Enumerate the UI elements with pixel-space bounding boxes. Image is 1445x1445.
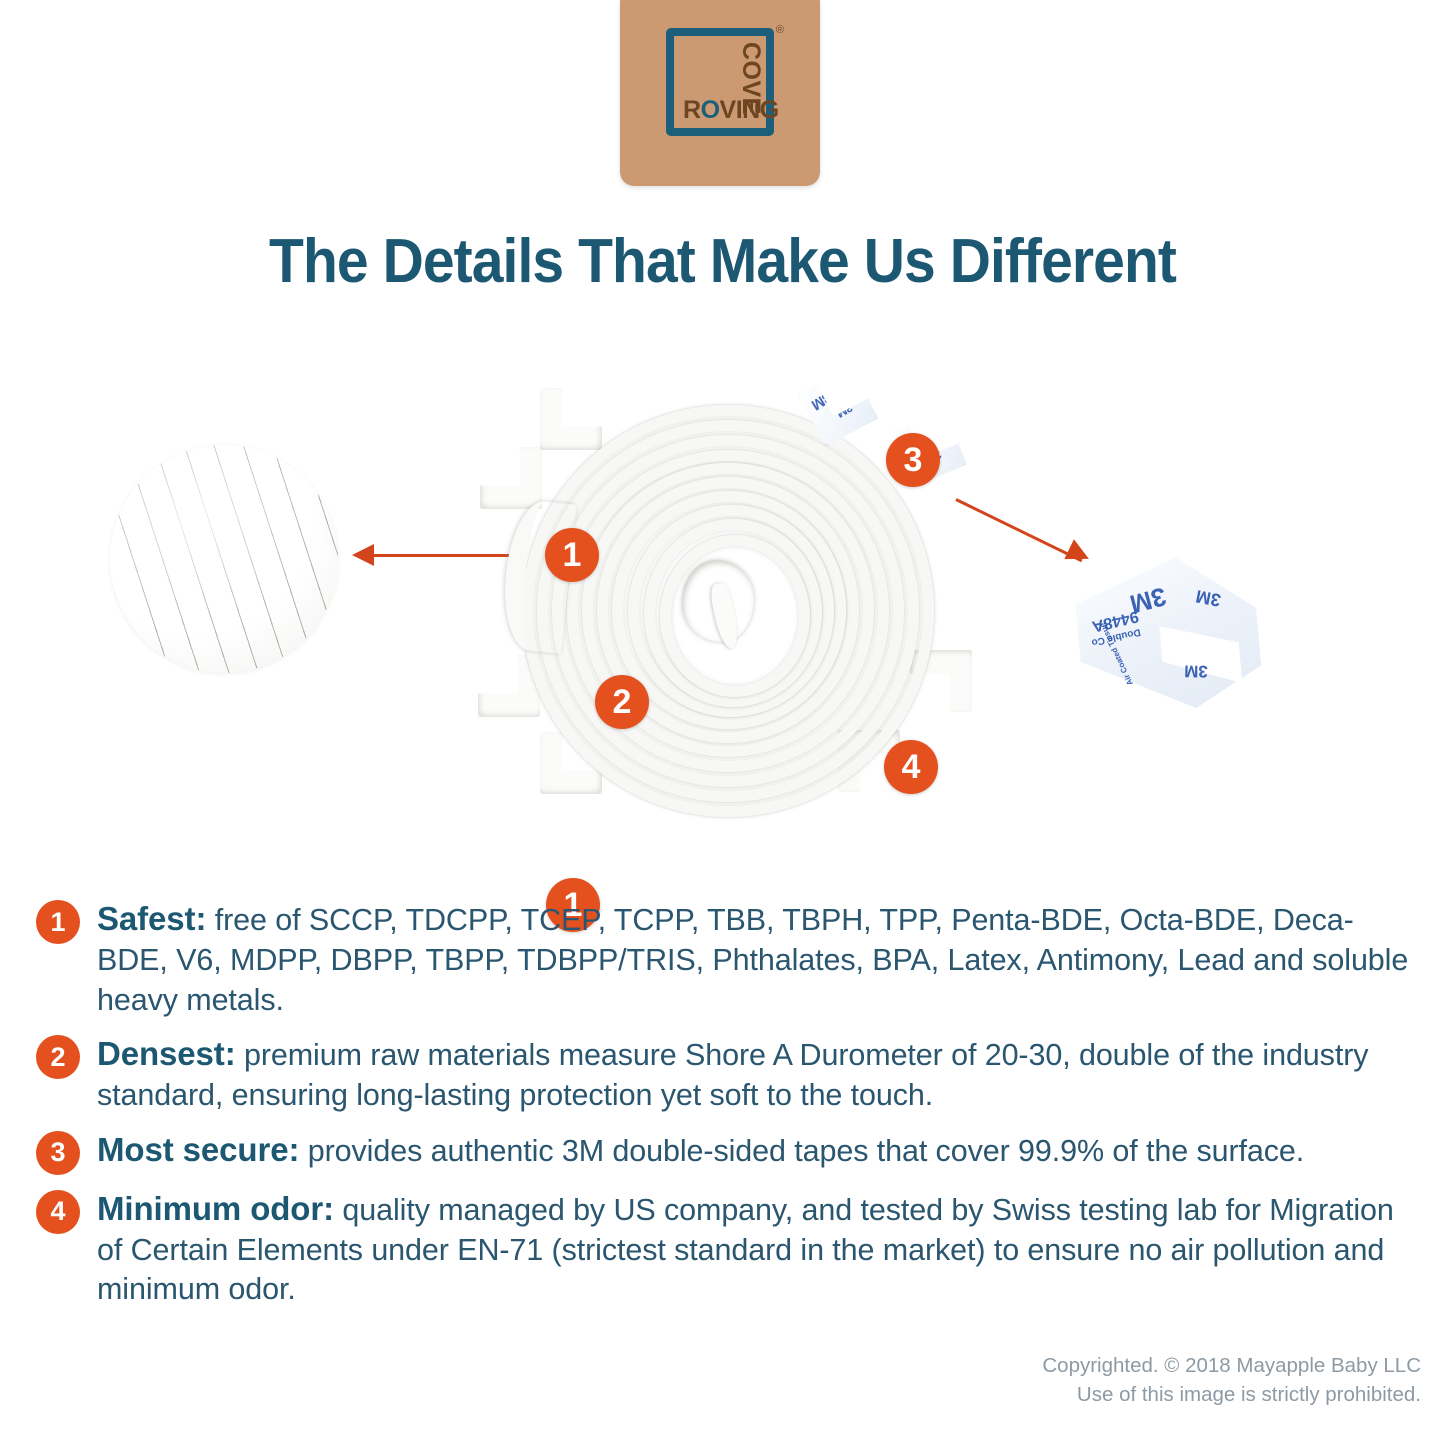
- feature-text-1: Safest: free of SCCP, TDCPP, TCEP, TCPP,…: [97, 898, 1411, 1020]
- registered-trademark-icon: ®: [776, 24, 784, 36]
- feature-label-2: Densest:: [97, 1035, 236, 1072]
- page-title: The Details That Make Us Different: [58, 226, 1387, 297]
- foam-texture-magnified-circle: [110, 445, 338, 673]
- tape-3m-label: 3M: [1184, 660, 1208, 680]
- feature-badge-2: 2: [36, 1035, 80, 1079]
- callout-badge-4: 4: [884, 740, 938, 794]
- feature-body-3: provides authentic 3M double-sided tapes…: [299, 1134, 1304, 1168]
- brand-logo: ROVING COVE ®: [620, 0, 820, 186]
- arrow-to-magnified-detail: [372, 554, 510, 557]
- arrow-to-tape-guard: [955, 498, 1082, 562]
- feature-item-most-secure: 3 Most secure: provides authentic 3M dou…: [36, 1129, 1411, 1175]
- copyright-line-1: Copyrighted. © 2018 Mayapple Baby LLC: [1042, 1351, 1421, 1380]
- tape-corner-guard-large: 3M 9448A Double Co Air Coated Tissue 3M …: [1068, 547, 1266, 723]
- feature-text-3: Most secure: provides authentic 3M doubl…: [97, 1129, 1304, 1172]
- feature-item-densest: 2 Densest: premium raw materials measure…: [36, 1033, 1411, 1116]
- feature-item-minimum-odor: 4 Minimum odor: quality managed by US co…: [36, 1188, 1411, 1310]
- feature-label-1: Safest:: [97, 900, 206, 937]
- logo-cove-text: COVE: [738, 42, 763, 115]
- feature-text-4: Minimum odor: quality managed by US comp…: [97, 1188, 1411, 1310]
- foam-edge-guard-coil: [522, 405, 912, 795]
- feature-body-2: premium raw materials measure Shore A Du…: [97, 1038, 1368, 1112]
- callout-badge-2: 2: [595, 675, 649, 729]
- copyright-notice: Copyrighted. © 2018 Mayapple Baby LLC Us…: [1042, 1351, 1421, 1409]
- product-illustration: 3M 3M 3M 3M 3M 9448A Double Co Air Coate…: [0, 350, 1445, 870]
- callout-badge-1: 1: [545, 528, 599, 582]
- feature-badge-4: 4: [36, 1190, 80, 1234]
- feature-badge-3: 3: [36, 1131, 80, 1175]
- feature-list: 1 Safest: free of SCCP, TDCPP, TCEP, TCP…: [36, 898, 1411, 1323]
- feature-label-4: Minimum odor:: [97, 1190, 334, 1227]
- logo-square-outline: ROVING COVE: [666, 28, 774, 136]
- foam-sheen-overlay: [110, 445, 338, 673]
- feature-body-1: free of SCCP, TDCPP, TCEP, TCPP, TBB, TB…: [97, 903, 1408, 1017]
- callout-badge-3: 3: [886, 433, 940, 487]
- feature-item-safest: 1 Safest: free of SCCP, TDCPP, TCEP, TCP…: [36, 898, 1411, 1020]
- copyright-line-2: Use of this image is strictly prohibited…: [1042, 1380, 1421, 1409]
- tape-3m-label: 3M: [1194, 585, 1223, 610]
- feature-text-2: Densest: premium raw materials measure S…: [97, 1033, 1411, 1116]
- feature-badge-1: 1: [36, 900, 80, 944]
- arrow-left-head-icon: [352, 544, 374, 566]
- feature-label-3: Most secure:: [97, 1131, 299, 1168]
